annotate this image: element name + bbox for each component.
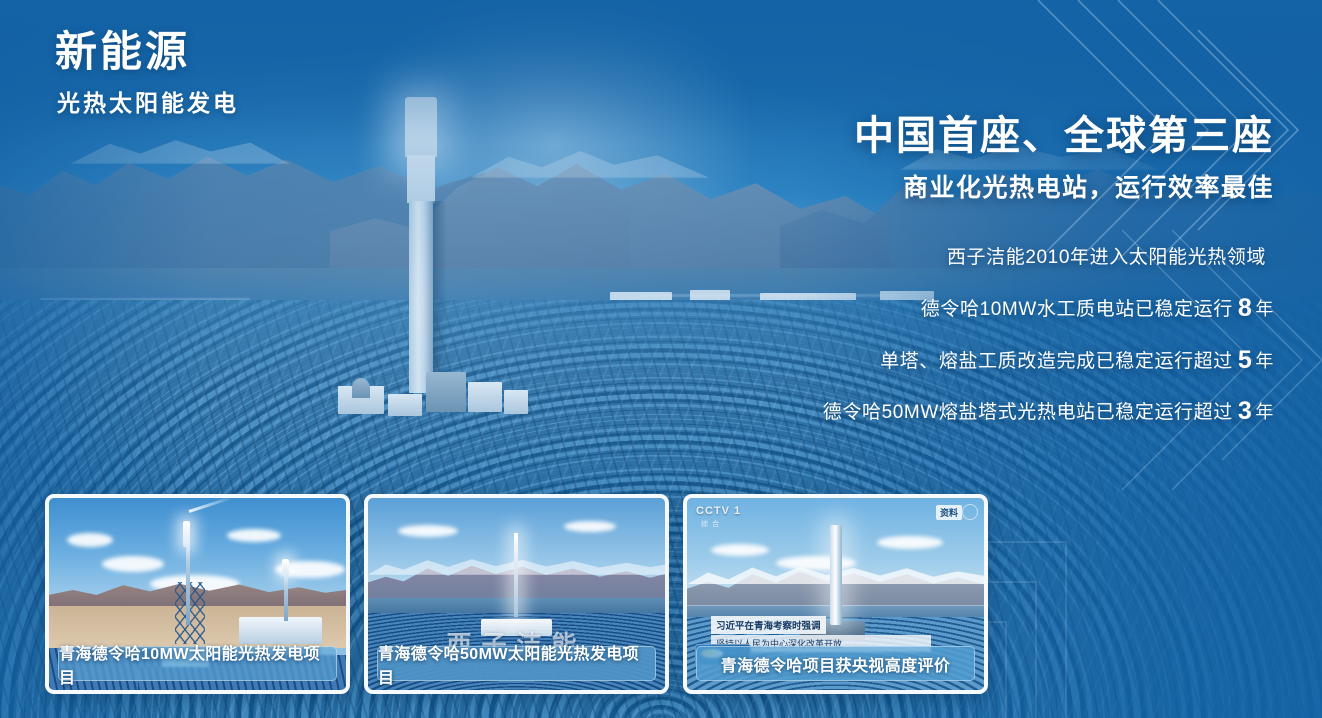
ticker-headline: 习近平在青海考察时强调 [711,616,826,634]
bullet-unit: 年 [1255,299,1274,319]
bullet-text: 德令哈10MW水工质电站已稳定运行 [921,299,1233,320]
right-content-block: 中国首座、全球第三座 商业化光热电站，运行效率最佳 西子洁能2010年进入太阳能… [714,112,1274,438]
bullet-number: 5 [1233,346,1256,374]
list-item: 德令哈50MW熔盐塔式光热电站已稳定运行超过3年 [714,386,1274,438]
list-item: 单塔、熔盐工质改造完成已稳定运行超过5年 [714,335,1274,387]
cctv-channel-name: 综合 [701,519,723,529]
clock-dial-icon [962,504,978,520]
thumbnail-delingha-10mw[interactable]: 青海德令哈10MW太阳能光热发电项目 [45,494,350,694]
list-item: 德令哈10MW水工质电站已稳定运行8年 [714,283,1274,335]
subheadline: 商业化光热电站，运行效率最佳 [714,168,1274,204]
thumbnail-delingha-50mw[interactable]: 西子洁能 青海德令哈50MW太阳能光热发电项目 [364,494,669,694]
thumbnail-caption: 青海德令哈10MW太阳能光热发电项目 [58,646,337,681]
bullet-text: 西子洁能2010年进入太阳能光热领域 [947,247,1266,268]
bullet-number: 3 [1233,397,1256,425]
page-title: 新能源 [55,28,239,76]
cctv-channel-logo: CCTV 1 [696,505,741,517]
title-block: 新能源 光热太阳能发电 [55,28,239,118]
thumbnail-cctv-report[interactable]: CCTV 1 综合 资料 习近平在青海考察时强调 坚持以人民为中心深化改革开放 … [683,494,988,694]
list-item: 西子洁能2010年进入太阳能光热领域 [714,231,1274,283]
slide-root: 新能源 光热太阳能发电 中国首座、全球第三座 商业化光热电站，运行效率最佳 西子… [0,0,1322,718]
achievement-list: 西子洁能2010年进入太阳能光热领域 德令哈10MW水工质电站已稳定运行8年 单… [714,231,1274,438]
headline: 中国首座、全球第三座 [714,112,1274,160]
bullet-text: 德令哈50MW熔盐塔式光热电站已稳定运行超过 [823,402,1233,423]
bullet-number [1266,242,1274,270]
thumbnail-gallery: 青海德令哈10MW太阳能光热发电项目 西子洁能 青海德令哈50MW太阳能光热发电… [45,494,988,694]
page-subtitle: 光热太阳能发电 [57,84,239,118]
bullet-number: 8 [1233,294,1256,322]
bullet-unit: 年 [1255,402,1274,422]
thumbnail-caption: 青海德令哈项目获央视高度评价 [696,646,975,681]
thumbnail-caption: 青海德令哈50MW太阳能光热发电项目 [377,646,656,681]
source-badge: 资料 [936,505,962,520]
bullet-text: 单塔、熔盐工质改造完成已稳定运行超过 [880,351,1233,372]
bullet-unit: 年 [1255,351,1274,371]
